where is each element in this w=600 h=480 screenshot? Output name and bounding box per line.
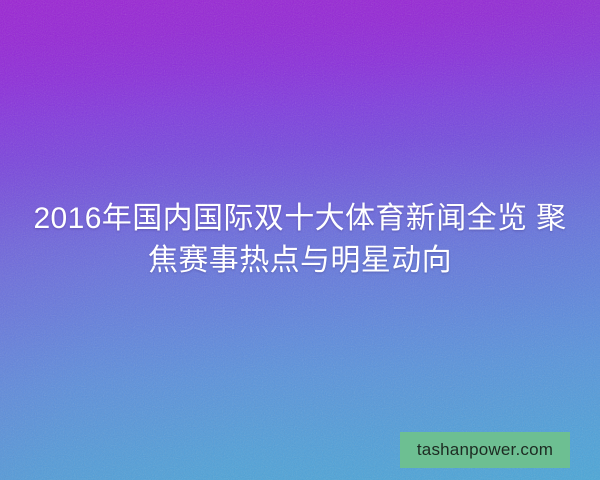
banner-image: 2016年国内国际双十大体育新闻全览 聚 焦赛事热点与明星动向 tashanpo… bbox=[0, 0, 600, 480]
watermark-badge: tashanpower.com bbox=[400, 432, 570, 468]
page-title: 2016年国内国际双十大体育新闻全览 聚 焦赛事热点与明星动向 bbox=[0, 198, 600, 282]
watermark-label: tashanpower.com bbox=[417, 440, 553, 460]
